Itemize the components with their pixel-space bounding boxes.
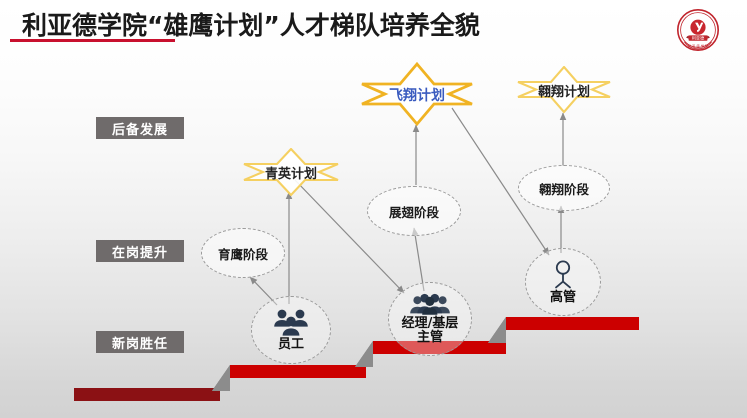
stage-node-yuying[interactable]: 育鹰阶段 (201, 228, 285, 278)
group-three-people-icon (271, 308, 311, 336)
single-person-outline-icon (547, 259, 579, 289)
role-node-label: 高管 (550, 291, 576, 305)
title-underline-rule (10, 39, 175, 42)
group-people-icon (409, 293, 451, 315)
step-riser-shadow (355, 341, 373, 367)
star-plan-feixiang[interactable]: 飞翔计划 (357, 62, 477, 126)
stage-node-aoxiang[interactable]: 翱翔阶段 (518, 165, 610, 211)
role-node-executive[interactable]: 高管 (525, 248, 601, 316)
role-label-line-2: 主管 (417, 330, 443, 345)
svg-text:利亚德: 利亚德 (692, 35, 705, 42)
page-title: 利亚德学院“雄鹰计划”人才梯队培养全貌 (22, 6, 480, 42)
company-seal-logo: 利亚德 利 亚 德 学 院 (676, 8, 720, 52)
role-node-staff[interactable]: 员工 (251, 296, 331, 364)
step-tread (74, 388, 220, 401)
step-riser-shadow (488, 317, 506, 343)
star-plan-label: 翱翔计划 (514, 81, 614, 100)
star-plan-label: 飞翔计划 (357, 85, 477, 105)
stage-node-zhanchi[interactable]: 展翅阶段 (367, 186, 461, 236)
star-plan-aoxiang[interactable]: 翱翔计划 (514, 66, 614, 113)
title-bar: 利亚德学院“雄鹰计划”人才梯队培养全貌 (0, 0, 747, 46)
svg-text:利 亚 德 学 院: 利 亚 德 学 院 (688, 43, 709, 48)
step-riser-shadow (212, 365, 230, 391)
role-node-label: 员工 (278, 338, 304, 352)
star-plan-label: 青英计划 (239, 163, 343, 182)
role-node-manager[interactable]: 经理/基层 主管 (388, 282, 472, 356)
role-node-label: 经理/基层 主管 (402, 317, 459, 344)
tier-label-new-post-competence: 新岗胜任 (96, 331, 184, 353)
slide-canvas: 利亚德学院“雄鹰计划”人才梯队培养全貌 利亚德 利 亚 德 学 院 (0, 0, 747, 418)
step-tread (506, 317, 639, 330)
tier-label-backup-development: 后备发展 (96, 117, 184, 139)
star-plan-qingying[interactable]: 青英计划 (239, 148, 343, 196)
step-tread (230, 365, 366, 378)
tier-label-on-job-improvement: 在岗提升 (96, 240, 184, 262)
